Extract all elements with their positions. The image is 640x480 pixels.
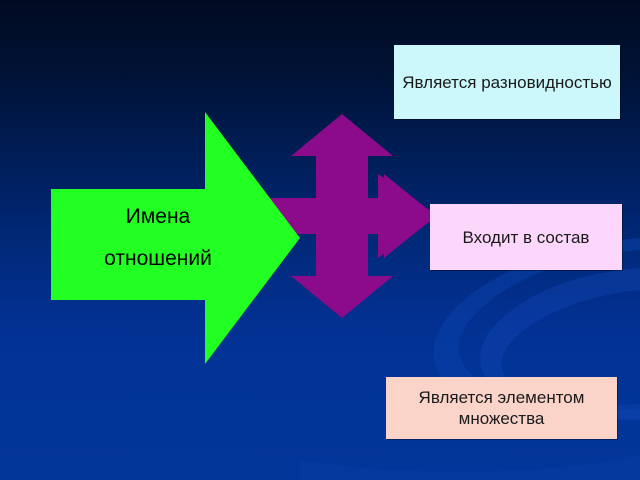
- callout-is-a-kind-of-text: Является разновидностью: [402, 72, 612, 93]
- callout-is-part-of-text: Входит в состав: [463, 227, 590, 248]
- callout-is-a-kind-of[interactable]: Является разновидностью: [394, 45, 620, 119]
- split-arrow-right-head: [378, 174, 438, 258]
- callout-is-element-of-set[interactable]: Является элементом множества: [386, 377, 617, 439]
- source-arrow-shape: [51, 112, 300, 364]
- slide-canvas: Имена отношений Является разновидностью …: [0, 0, 640, 480]
- green-source-arrow: [45, 112, 303, 364]
- callout-is-element-of-set-text: Является элементом множества: [392, 387, 611, 429]
- callout-is-part-of[interactable]: Входит в состав: [430, 204, 622, 270]
